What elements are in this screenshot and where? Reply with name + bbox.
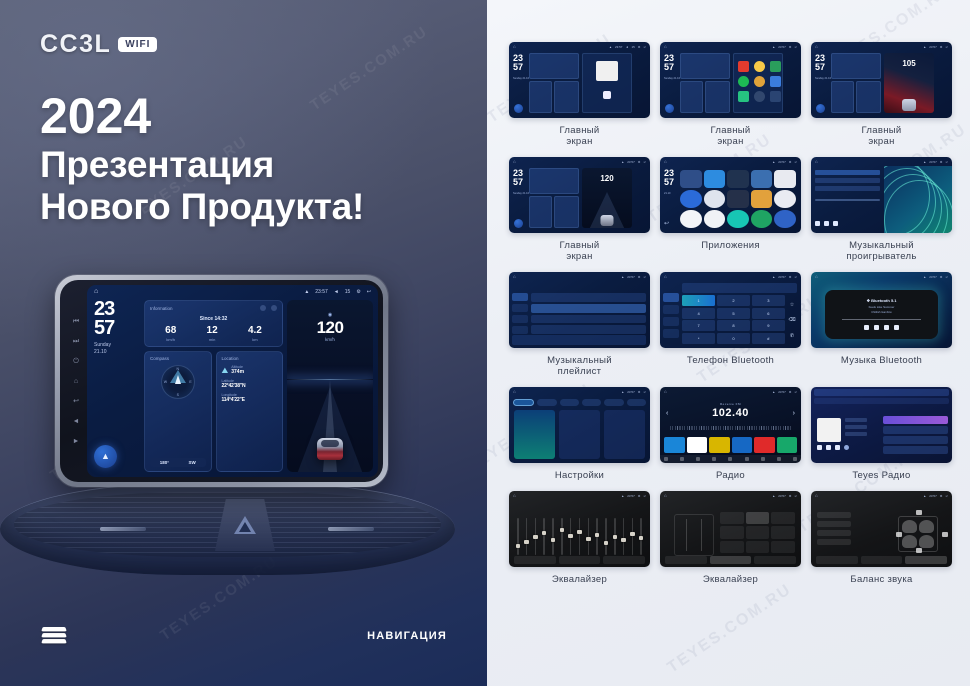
- gallery-caption: Радио: [716, 470, 745, 481]
- tab-personal[interactable]: [604, 399, 623, 406]
- meta-genre: [845, 418, 867, 422]
- slider-bass[interactable]: [686, 519, 688, 551]
- caption-line-1: Телефон Bluetooth: [687, 355, 774, 366]
- head-unit-screen[interactable]: ⌂ ▲ 23:57 ◄ 15 ⚙ ↩: [87, 285, 378, 477]
- phone-sidebar[interactable]: [663, 293, 679, 344]
- stat-unit: min: [207, 337, 218, 342]
- gallery-item[interactable]: ⌂ ▲ 23:57 ◄ 15 ⚙ ↩ 2357Sunday 21.10: [509, 42, 650, 147]
- app-icon-calculator[interactable]: [751, 170, 773, 188]
- sidebar-item-recents[interactable]: [663, 329, 679, 338]
- clock-weekday: Sunday: [94, 342, 140, 349]
- thumb-status-right: ▲ 23:57 ⚙ ↩: [621, 494, 646, 498]
- track-row[interactable]: [815, 186, 880, 191]
- caption-line-1: Главный: [560, 125, 600, 136]
- eq-slider[interactable]: [605, 518, 607, 555]
- gallery-item[interactable]: ⌂ ▲ 23:57 ⚙ ↩ 235721.10: [660, 157, 801, 262]
- station-row[interactable]: [883, 426, 948, 434]
- wifi-icon: ▲: [621, 494, 624, 498]
- thumb-time: 23:57: [929, 275, 937, 279]
- bt-track-title: Feels Like Summer: [869, 305, 895, 309]
- home-icon: ⌂: [664, 493, 667, 498]
- settings-card-wifi[interactable]: [514, 410, 555, 459]
- preset-country[interactable]: [746, 526, 770, 538]
- radio-frequency-readout: Receive FM 102.40: [660, 402, 801, 419]
- gallery-item[interactable]: ⌂ ▲ 23:57 ⚙ ↩: [660, 272, 801, 377]
- settings-card-row[interactable]: [514, 410, 645, 459]
- caption-line-1: Музыка Bluetooth: [841, 355, 922, 366]
- gallery-item[interactable]: ⌂ ▲ 23:57 ⚙ ↩: [811, 491, 952, 585]
- caption-line-1: Музыкальный: [849, 240, 914, 251]
- gallery-item[interactable]: ⌂ ▲ 23:57 ⚙ ↩: [509, 387, 650, 481]
- thumb-body: 2357Sunday 21.10: [660, 51, 801, 118]
- thumb-body: 1 2 3 4 5 6 7 8 9 * 0 #: [660, 281, 801, 348]
- information-card-header: Information: [150, 305, 277, 311]
- compass-card[interactable]: Compass N S W E: [144, 351, 212, 472]
- preset-dance[interactable]: [720, 541, 744, 553]
- next-icon[interactable]: [833, 221, 838, 226]
- eq-slider[interactable]: [596, 518, 598, 555]
- home-icon: ⌂: [664, 274, 667, 279]
- thumb-status-bar: ⌂ ▲ 23:57 ⚙ ↩: [811, 491, 952, 500]
- equalizer-footer-tabs[interactable]: [816, 556, 947, 564]
- dial-key-4[interactable]: 4: [682, 308, 715, 319]
- tab-sound[interactable]: [537, 399, 556, 406]
- gallery-item[interactable]: ⌂ ▲ 23:57 ⚙ ↩: [509, 491, 650, 585]
- radio-preset-6[interactable]: [777, 437, 798, 453]
- eq-slider[interactable]: [526, 518, 528, 555]
- dial-key-8[interactable]: 8: [717, 320, 750, 331]
- mini-info-card: [680, 53, 730, 79]
- preset-jazz[interactable]: [720, 526, 744, 538]
- screen-body: 23 57 Sunday 21.10 ▲: [87, 298, 378, 477]
- wifi-icon: ▲: [772, 45, 775, 49]
- eq-slider[interactable]: [552, 518, 554, 555]
- sidebar-item-albums[interactable]: [512, 315, 528, 323]
- thumb-time: 23:57: [778, 494, 786, 498]
- app-icon-radio[interactable]: [774, 210, 796, 228]
- tab-fader[interactable]: [603, 556, 645, 564]
- eq-slider[interactable]: [561, 518, 563, 555]
- previous-icon[interactable]: [864, 325, 869, 330]
- back-arrow-icon: ↩: [643, 45, 646, 49]
- tab-equalizer[interactable]: [665, 556, 707, 564]
- screen-thumbnail-settings[interactable]: ⌂ ▲ 23:57 ⚙ ↩: [509, 387, 650, 463]
- playlist-row[interactable]: [531, 304, 646, 313]
- track-row[interactable]: [815, 170, 880, 175]
- bluetooth-icon: ❖: [866, 298, 870, 303]
- radio-bottom-toolbar[interactable]: [660, 455, 801, 463]
- caption-line-1: Главный: [560, 240, 600, 251]
- sidebar-item-folders[interactable]: [512, 326, 528, 334]
- eq-slider[interactable]: [517, 518, 519, 555]
- slider-treble[interactable]: [701, 519, 703, 551]
- bluetooth-title: Bluetooth 5.1: [871, 298, 896, 303]
- eq-slider[interactable]: [570, 518, 572, 555]
- equalizer-sliders[interactable]: [517, 518, 642, 555]
- playlist-rows[interactable]: [531, 293, 646, 334]
- screen-thumbnail-music-player[interactable]: ⌂ ▲ 23:57 ⚙ ↩: [811, 157, 952, 233]
- preset-rear[interactable]: [817, 530, 851, 536]
- loc-icon[interactable]: [761, 457, 765, 461]
- dial-key-1[interactable]: 1: [682, 295, 715, 306]
- tab-fader[interactable]: [905, 556, 947, 564]
- tab-general[interactable]: [582, 399, 601, 406]
- screen-thumbnail-teyes-radio[interactable]: [811, 387, 952, 463]
- band-icon[interactable]: [664, 457, 668, 461]
- eq-slider[interactable]: [623, 518, 625, 555]
- balance-right-button[interactable]: [942, 532, 948, 537]
- app-icon-gmail[interactable]: [680, 210, 702, 228]
- next-icon[interactable]: [894, 325, 899, 330]
- speed-panel[interactable]: ◉ 120 km/h: [287, 300, 373, 472]
- radio-preset-5[interactable]: [754, 437, 775, 453]
- home-key-icon[interactable]: ⌂: [74, 378, 78, 385]
- stop-icon[interactable]: [884, 325, 889, 330]
- app-icon-play: [738, 91, 749, 102]
- home-icon: ⌂: [513, 274, 516, 279]
- screens-gallery-panel: TEYES.COM.RU TEYES.COM.RU TEYES.COM.RU T…: [487, 0, 970, 686]
- gear-icon: ⚙: [940, 275, 943, 279]
- equalizer-footer-tabs[interactable]: [514, 556, 645, 564]
- eq-slider[interactable]: [632, 518, 634, 555]
- screen-thumbnail-music-playlist[interactable]: ⌂ ▲ 23:57 ⚙ ↩: [509, 272, 650, 348]
- playback-controls[interactable]: [815, 221, 838, 229]
- thumb-time: 23:57: [627, 160, 635, 164]
- screen-thumbnail-bt-music[interactable]: ⌂ ▲ 23:57 ⚙ ↩ ❖ Bluetooth 5.1: [811, 272, 952, 348]
- balance-pad[interactable]: [898, 516, 938, 552]
- screen-thumbnail-home-apps[interactable]: ⌂ ▲ 23:57 ⚙ ↩ 2357Sunday 21.10: [660, 42, 801, 118]
- thumb-time: 23:57: [778, 390, 786, 394]
- tab-effects[interactable]: [861, 556, 903, 564]
- gallery-item[interactable]: ⌂ ▲ 23:57 ⚙ ↩: [509, 272, 650, 377]
- thumb-time: 23:57: [615, 45, 623, 49]
- chevron-right-icon[interactable]: ›: [793, 410, 795, 417]
- thumb-status-bar: ⌂ ▲ 23:57 ⚙ ↩: [811, 157, 952, 166]
- compass-north-label: N: [176, 367, 179, 371]
- app-icon-playstore[interactable]: [751, 210, 773, 228]
- power-key-icon[interactable]: ⏻: [73, 358, 79, 365]
- sidebar-item-favorites[interactable]: [663, 317, 679, 326]
- dial-key-star[interactable]: *: [682, 333, 715, 344]
- thumb-time: 23:57: [929, 494, 937, 498]
- phone-number-input[interactable]: [682, 283, 797, 293]
- dial-key-2[interactable]: 2: [717, 295, 750, 306]
- playlist-row[interactable]: [531, 315, 646, 324]
- home-icon: ⌂: [513, 493, 516, 498]
- radio-preset-3[interactable]: [709, 437, 730, 453]
- sidebar-item-artists[interactable]: [512, 304, 528, 312]
- mini-location-card: [856, 81, 881, 113]
- teyes-playback-controls[interactable]: [817, 445, 849, 450]
- screen-thumbnail-equalizer-presets[interactable]: ⌂ ▲ 23:57 ⚙ ↩: [660, 491, 801, 567]
- chevron-left-icon[interactable]: ‹: [666, 410, 668, 417]
- app-icon-camera[interactable]: [774, 170, 796, 188]
- dial-key-hash[interactable]: #: [752, 333, 785, 344]
- gallery-item[interactable]: ⌂ ▲ 23:57 ⚙ ↩ 2357Sunday 21.10: [660, 42, 801, 147]
- preset-vocal[interactable]: [771, 526, 795, 538]
- balance-down-button[interactable]: [916, 548, 922, 553]
- app-icon-radio: [754, 91, 765, 102]
- eq-slider[interactable]: [588, 518, 590, 555]
- layers-icon-middle: [41, 633, 67, 637]
- wifi-icon: ▲: [772, 390, 775, 394]
- phone-actions[interactable]: ☆ ⌫ ✆: [786, 297, 798, 344]
- playlist-row[interactable]: [531, 325, 646, 334]
- screen-thumbnail-radio[interactable]: ⌂ ▲ 23:57 ⚙ ↩ Receive FM 102.40: [660, 387, 801, 463]
- gallery-item[interactable]: ⌂ ▲ 23:57 ⚙ ↩ Receive FM 102.40: [660, 387, 801, 481]
- app-icon-gallery[interactable]: [774, 190, 796, 208]
- station-row[interactable]: [883, 446, 948, 454]
- gear-icon[interactable]: ⚙: [356, 289, 360, 295]
- information-card-actions[interactable]: [260, 305, 277, 311]
- pause-icon[interactable]: [824, 221, 829, 226]
- preset-classical[interactable]: [746, 512, 770, 524]
- play-pause-icon[interactable]: [874, 325, 879, 330]
- vol-down-key-icon[interactable]: ◄: [73, 418, 80, 425]
- side-key-column[interactable]: ⏮ ⏭ ⏻ ⌂ ↩ ◄ ►: [65, 285, 87, 477]
- prev-key-icon[interactable]: ⏮: [73, 318, 79, 325]
- preset-custom[interactable]: [771, 541, 795, 553]
- backspace-icon[interactable]: ⌫: [788, 317, 795, 323]
- eq-slider[interactable]: [640, 518, 642, 555]
- tab-effects[interactable]: [710, 556, 752, 564]
- playlist-sidebar[interactable]: [512, 293, 528, 334]
- information-card[interactable]: Information Since 14:32: [144, 300, 283, 347]
- tab-equalizer[interactable]: [514, 556, 556, 564]
- balance-up-button[interactable]: [916, 510, 922, 515]
- rds-icon[interactable]: [728, 457, 732, 461]
- gallery-item[interactable]: ⌂ ▲ 23:57 ⚙ ↩ ❖ Bluetooth 5.1: [811, 272, 952, 377]
- longitude-value: 114°4'22"E: [222, 397, 278, 403]
- stop-icon[interactable]: [826, 445, 831, 450]
- page-title: 2024 Презентация Нового Продукта!: [40, 88, 364, 228]
- thumb-volume: 15: [631, 45, 634, 49]
- layers-icon-top: [41, 627, 67, 631]
- thumb-time: 23:57: [778, 45, 786, 49]
- dial-key-6[interactable]: 6: [752, 308, 785, 319]
- radio-preset-4[interactable]: [732, 437, 753, 453]
- radio-presets[interactable]: [664, 437, 797, 453]
- caption-line-2: экран: [566, 136, 592, 147]
- gear-icon: ⚙: [789, 275, 792, 279]
- bt-progress-bar[interactable]: [842, 319, 921, 320]
- station-row[interactable]: [883, 436, 948, 444]
- app-icon-dvr[interactable]: [727, 190, 749, 208]
- volume-value: 15: [345, 289, 351, 295]
- screen-thumbnail-home-speed-blue[interactable]: ⌂ ▲ 23:57 ⚙ ↩ 2357Sunday 21.10: [509, 157, 650, 233]
- preset-soft[interactable]: [746, 541, 770, 553]
- back-arrow-icon: ↩: [794, 494, 797, 498]
- wifi-icon: ▲: [621, 160, 624, 164]
- compass-card-title: Compass: [150, 356, 169, 361]
- progress-bar[interactable]: [815, 199, 880, 201]
- home-icon[interactable]: ⌂: [94, 288, 98, 295]
- app-icon-filemanager[interactable]: [751, 190, 773, 208]
- caption-line-1: Teyes Радио: [852, 470, 910, 481]
- tab-display[interactable]: [560, 399, 579, 406]
- thumb-status-bar: ⌂ ▲ 23:57 ⚙ ↩: [660, 42, 801, 51]
- radio-preset-1[interactable]: [664, 437, 685, 453]
- next-key-icon[interactable]: ⏭: [73, 338, 79, 345]
- screen-thumbnail-sound-balance[interactable]: ⌂ ▲ 23:57 ⚙ ↩: [811, 491, 952, 567]
- app-icon-aux[interactable]: [680, 170, 702, 188]
- trip-stat: 4.2 km: [248, 325, 262, 342]
- bt-playback-controls[interactable]: [864, 325, 899, 330]
- layers-icon-bottom: [41, 639, 67, 643]
- playlist-row[interactable]: [531, 293, 646, 302]
- equalizer-footer-tabs[interactable]: [665, 556, 796, 564]
- dial-key-7[interactable]: 7: [682, 320, 715, 331]
- hero-panel: TEYES.COM.RU TEYES.COM.RU TEYES.COM.RU T…: [0, 0, 487, 686]
- st-icon[interactable]: [745, 457, 749, 461]
- preset-driver[interactable]: [817, 512, 851, 518]
- wifi-icon: ▲: [772, 275, 775, 279]
- balance-left-button[interactable]: [896, 532, 902, 537]
- trip-since-label: Since 14:32: [150, 316, 277, 322]
- sidebar-item-tracks[interactable]: [512, 293, 528, 301]
- gallery-item[interactable]: ⌂ ▲ 23:57 ⚙ ↩ 2357Sunday 21.10: [811, 42, 952, 147]
- seat-rear-right: [919, 535, 934, 548]
- radio-tuning-scale[interactable]: [670, 426, 791, 430]
- screen-thumbnail-home-media[interactable]: ⌂ ▲ 23:57 ◄ 15 ⚙ ↩ 2357Sunday 21.10: [509, 42, 650, 118]
- tab-wlan[interactable]: [513, 399, 534, 406]
- sidebar-item-contacts[interactable]: [663, 305, 679, 314]
- favorite-icon[interactable]: [844, 445, 849, 450]
- app-icon-store: [754, 76, 765, 87]
- app-icon-bluetooth[interactable]: [704, 170, 726, 188]
- refresh-icon[interactable]: [260, 305, 266, 311]
- back-arrow-icon[interactable]: ↩: [367, 289, 371, 295]
- thumb-body: [811, 396, 952, 463]
- settings-tab-bar[interactable]: [513, 399, 646, 406]
- dial-key-5[interactable]: 5: [717, 308, 750, 319]
- tab-equalizer[interactable]: [816, 556, 858, 564]
- apps-icon[interactable]: [793, 457, 797, 461]
- thumb-body: [660, 500, 801, 567]
- previous-icon[interactable]: [815, 221, 820, 226]
- gallery-caption: Teyes Радио: [852, 470, 910, 481]
- tab-fader[interactable]: [754, 556, 796, 564]
- preset-all[interactable]: [817, 539, 851, 545]
- balance-preset-list[interactable]: [817, 512, 851, 545]
- back-arrow-icon[interactable]: ↩: [664, 220, 669, 227]
- call-icon[interactable]: ✆: [790, 333, 794, 339]
- caption-line-2: экран: [868, 136, 894, 147]
- eq-slider[interactable]: [543, 518, 545, 555]
- navigation-fab[interactable]: ▲: [94, 445, 117, 468]
- eq-slider[interactable]: [579, 518, 581, 555]
- caption-line-2: экран: [566, 251, 592, 262]
- app-icon-youtube: [738, 61, 749, 72]
- screen-thumbnail-apps[interactable]: ⌂ ▲ 23:57 ⚙ ↩ 235721.10: [660, 157, 801, 233]
- sidebar-item-dialpad[interactable]: [663, 293, 679, 302]
- favorite-icon[interactable]: ☆: [790, 302, 794, 308]
- app-icon-music[interactable]: [727, 210, 749, 228]
- caption-line-1: Приложения: [701, 240, 760, 251]
- dial-key-0[interactable]: 0: [717, 333, 750, 344]
- mini-compass-card: [680, 81, 703, 113]
- compass-south-label: S: [177, 393, 179, 397]
- app-icon-bluetooth-music[interactable]: [727, 170, 749, 188]
- radio-preset-2[interactable]: [687, 437, 708, 453]
- speed-value: 120: [287, 319, 373, 336]
- app-icon-chrome[interactable]: [680, 190, 702, 208]
- station-row-selected[interactable]: [883, 416, 948, 424]
- vol-up-key-icon[interactable]: ►: [73, 438, 80, 445]
- screen-thumbnail-equalizer-bars[interactable]: ⌂ ▲ 23:57 ⚙ ↩: [509, 491, 650, 567]
- next-icon[interactable]: [835, 445, 840, 450]
- gallery-item[interactable]: Teyes Радио: [811, 387, 952, 481]
- eq-slider[interactable]: [614, 518, 616, 555]
- location-card[interactable]: Location ⛰ Altitude 374m: [216, 351, 284, 472]
- search-icon[interactable]: [680, 457, 684, 461]
- navigation-label: НАВИГАЦИЯ: [367, 630, 447, 642]
- back-key-icon[interactable]: ↩: [73, 398, 79, 405]
- previous-icon[interactable]: [817, 445, 822, 450]
- volume-icon[interactable]: ◄: [334, 289, 339, 295]
- app-icon-clock[interactable]: [704, 190, 726, 208]
- gallery-item[interactable]: ⌂ ▲ 23:57 ⚙ ↩ 2357Sunday 21.10: [509, 157, 650, 262]
- settings-card-carplay[interactable]: [559, 410, 600, 459]
- settings-card-more[interactable]: [604, 410, 645, 459]
- widget-row: Compass N S W E: [144, 351, 283, 472]
- gallery-caption: Баланс звука: [850, 574, 912, 585]
- teyes-radio-top-tabs[interactable]: [814, 389, 949, 396]
- eq-icon[interactable]: [712, 457, 716, 461]
- gallery-item[interactable]: ⌂ ▲ 23:57 ⚙ ↩: [811, 157, 952, 262]
- thumb-time: 23:57: [627, 494, 635, 498]
- music-track-list[interactable]: [811, 166, 884, 233]
- dialpad[interactable]: 1 2 3 4 5 6 7 8 9 * 0 #: [682, 295, 785, 344]
- hazard-triangle-icon: [234, 516, 256, 534]
- screen-thumbnail-home-speed-red[interactable]: ⌂ ▲ 23:57 ⚙ ↩ 2357Sunday 21.10: [811, 42, 952, 118]
- dial-key-9[interactable]: 9: [752, 320, 785, 331]
- app-icon-maps[interactable]: [704, 210, 726, 228]
- settings-icon[interactable]: [777, 457, 781, 461]
- track-row[interactable]: [815, 178, 880, 183]
- app-grid[interactable]: [678, 168, 798, 230]
- preset-rock[interactable]: [720, 512, 744, 524]
- thumb-body: [811, 500, 952, 567]
- mini-speed-value: 105: [884, 59, 934, 68]
- thumb-status-right: ▲ 23:57 ⚙ ↩: [923, 494, 948, 498]
- dial-key-3[interactable]: 3: [752, 295, 785, 306]
- teyes-station-list[interactable]: [883, 416, 948, 454]
- screen-thumbnail-bt-phone[interactable]: ⌂ ▲ 23:57 ⚙ ↩: [660, 272, 801, 348]
- meta-country: [845, 425, 867, 429]
- preset-pop[interactable]: [771, 512, 795, 524]
- tab-effects[interactable]: [559, 556, 601, 564]
- preset-front[interactable]: [817, 521, 851, 527]
- list-icon[interactable]: [696, 457, 700, 461]
- thumb-body: [811, 166, 952, 233]
- tab-system[interactable]: [627, 399, 646, 406]
- eq-preset-grid[interactable]: [720, 512, 795, 553]
- thumb-body: 2357Sunday 21.10 120: [509, 166, 650, 233]
- subwoofer-sliders[interactable]: [674, 514, 714, 556]
- playlist-now-playing-bar[interactable]: [512, 335, 646, 345]
- gear-icon: ⚙: [940, 45, 943, 49]
- thumb-body: 2357Sunday 21.10: [509, 51, 650, 118]
- thumb-status-right: ▲ 23:57 ⚙ ↩: [621, 160, 646, 164]
- compass-direction: SW: [189, 460, 196, 465]
- clock-date: 21.10: [94, 349, 140, 356]
- gallery-item[interactable]: ⌂ ▲ 23:57 ⚙ ↩: [660, 491, 801, 585]
- gear-icon: ⚙: [638, 45, 641, 49]
- thumb-status-bar: ⌂ ▲ 23:57 ⚙ ↩: [509, 157, 650, 166]
- expand-icon[interactable]: [271, 305, 277, 311]
- eq-slider[interactable]: [535, 518, 537, 555]
